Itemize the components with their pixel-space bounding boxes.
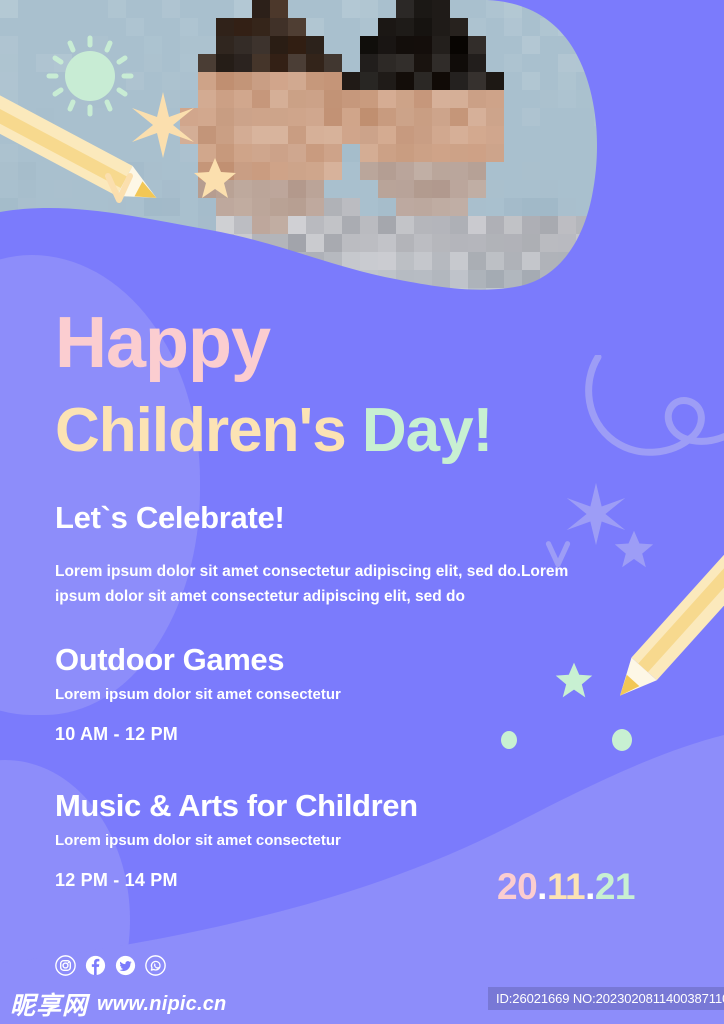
subheading: Let`s Celebrate! [55,500,285,536]
date-separator-2: . [585,866,595,907]
event-date: 20.11.21 [497,866,635,908]
poster-canvas: Happy Children's Day! Let`s Celebrate! L… [0,0,724,1024]
intro-paragraph: Lorem ipsum dolor sit amet consectetur a… [55,560,575,610]
footer-brand: 昵享网 www.nipic.cn [10,986,226,1022]
brand-logo-cn: 昵享网 [10,986,88,1022]
instagram-icon[interactable] [55,955,76,976]
brand-url: www.nipic.cn [97,993,226,1016]
event-2-time: 12 PM - 14 PM [55,870,418,891]
twitter-icon[interactable] [115,955,136,976]
date-year: 21 [595,866,635,907]
id-watermark: ID:26021669 NO:20230208114003871103 [488,987,724,1010]
social-links [55,955,166,976]
date-month: 11 [547,866,585,907]
facebook-icon[interactable] [85,955,106,976]
date-separator-1: . [537,866,547,907]
whatsapp-icon[interactable] [145,955,166,976]
title-happy: Happy [55,307,270,379]
event-1-time: 10 AM - 12 PM [55,724,341,745]
event-1-description: Lorem ipsum dolor sit amet consectetur [55,686,341,703]
title-children-word: Children's [55,396,362,465]
date-day: 20 [497,866,537,907]
event-2-description: Lorem ipsum dolor sit amet consectetur [55,832,418,849]
poster-content: Happy Children's Day! Let`s Celebrate! L… [0,0,724,1024]
event-block-2: Music & Arts for Children Lorem ipsum do… [55,789,418,891]
event-2-title: Music & Arts for Children [55,789,418,823]
title-children-day: Children's Day! [55,400,492,462]
title-day-word: Day! [362,396,492,465]
event-1-title: Outdoor Games [55,643,341,677]
event-block-1: Outdoor Games Lorem ipsum dolor sit amet… [55,643,341,745]
